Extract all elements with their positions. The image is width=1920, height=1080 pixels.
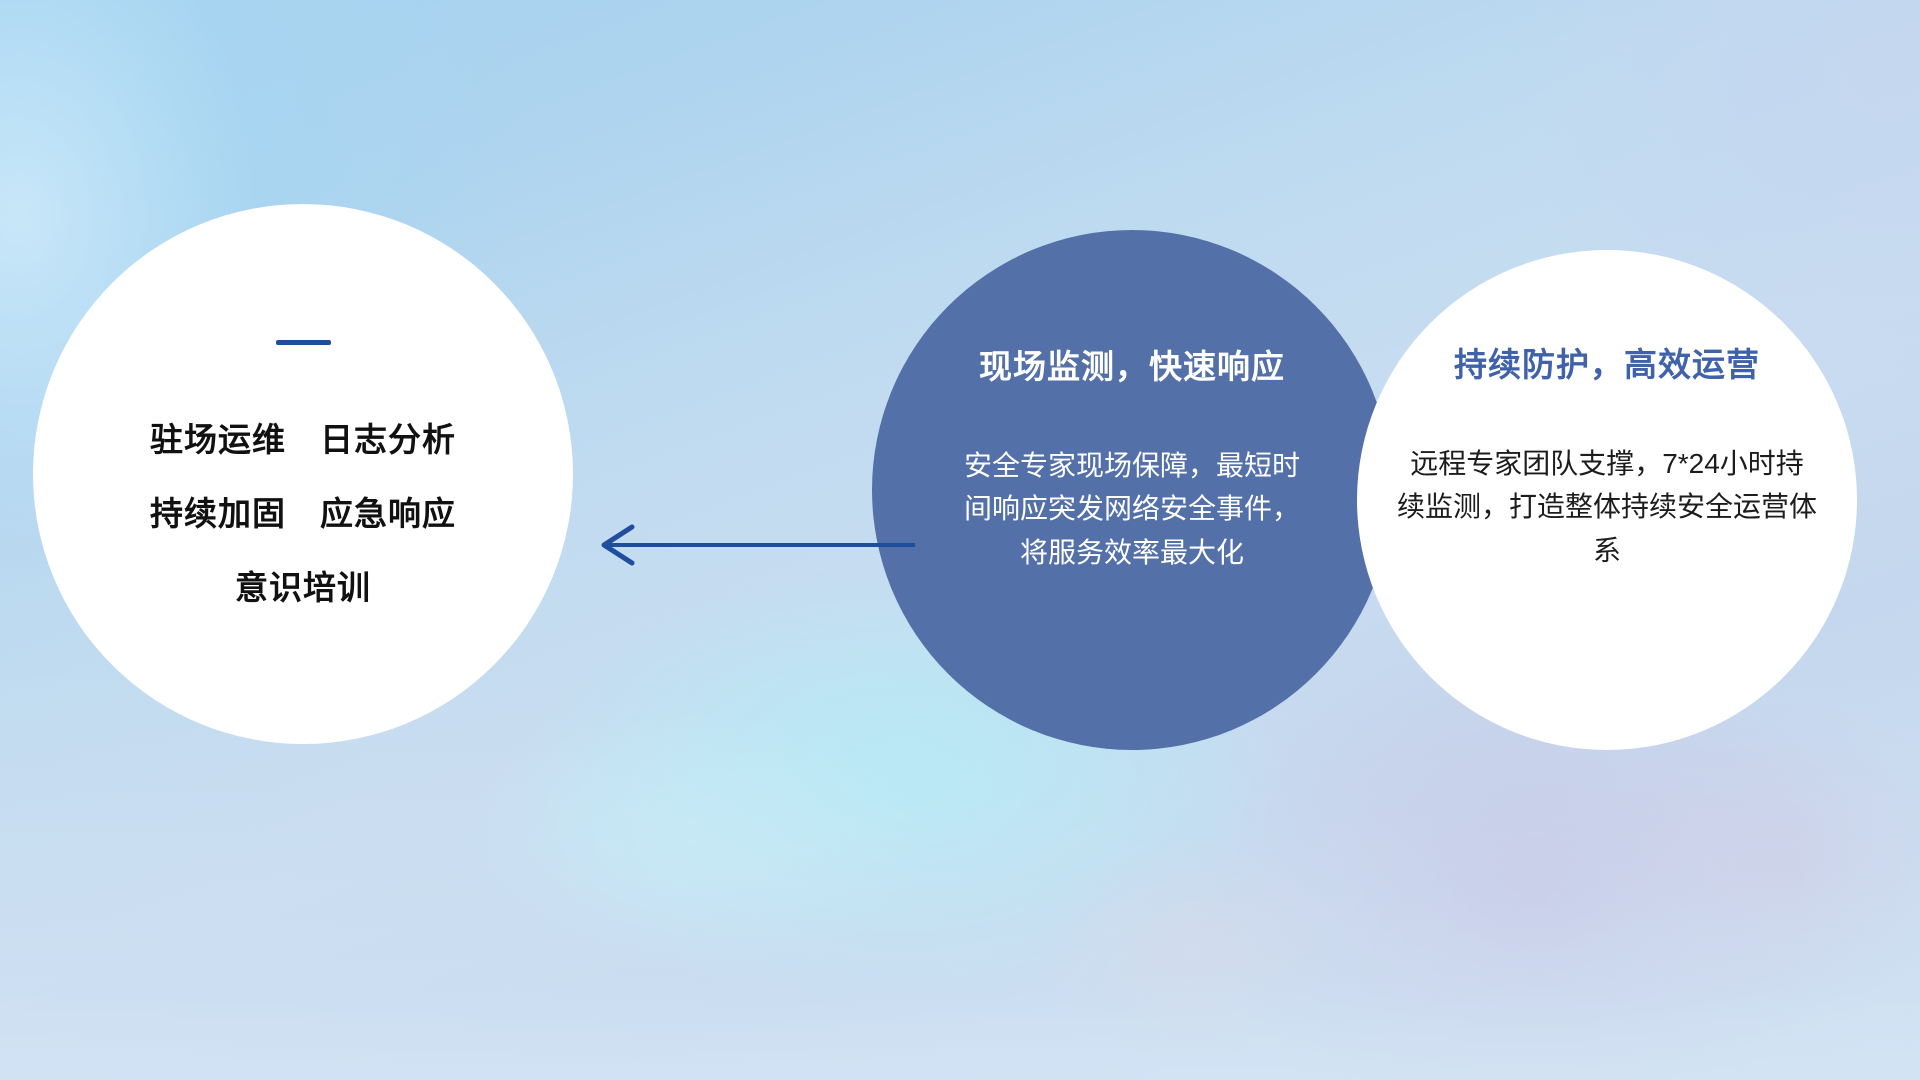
divider-line [276, 340, 331, 345]
capability-row: 持续加固 应急响应 [150, 487, 456, 535]
onsite-monitoring-body: 安全专家现场保障，最短时间响应突发网络安全事件，将服务效率最大化 [962, 444, 1302, 574]
capability-keyword-list: 驻场运维 日志分析 持续加固 应急响应 意识培训 [150, 413, 456, 609]
continuous-protection-body: 远程专家团队支撑，7*24小时持续监测，打造整体持续安全运营体系 [1397, 442, 1817, 572]
capability-keyword: 应急响应 [320, 487, 456, 535]
capability-keyword: 驻场运维 [150, 413, 286, 461]
onsite-monitoring-circle-content: 现场监测，快速响应 安全专家现场保障，最短时间响应突发网络安全事件，将服务效率最… [872, 230, 1392, 750]
capability-keyword: 日志分析 [320, 413, 456, 461]
capability-keyword: 意识培训 [235, 561, 371, 609]
continuous-protection-circle-content: 持续防护，高效运营 远程专家团队支撑，7*24小时持续监测，打造整体持续安全运营… [1357, 250, 1857, 750]
continuous-protection-title: 持续防护，高效运营 [1454, 338, 1760, 386]
capability-keyword: 持续加固 [150, 487, 286, 535]
capability-row: 意识培训 [235, 561, 371, 609]
flow-arrow-left [590, 510, 920, 580]
onsite-monitoring-title: 现场监测，快速响应 [979, 340, 1285, 388]
capabilities-circle-content: 驻场运维 日志分析 持续加固 应急响应 意识培训 [33, 204, 573, 744]
capability-row: 驻场运维 日志分析 [150, 413, 456, 461]
slide-canvas: 驻场运维 日志分析 持续加固 应急响应 意识培训 现场监测，快速响应 安全专家现… [0, 0, 1920, 1080]
